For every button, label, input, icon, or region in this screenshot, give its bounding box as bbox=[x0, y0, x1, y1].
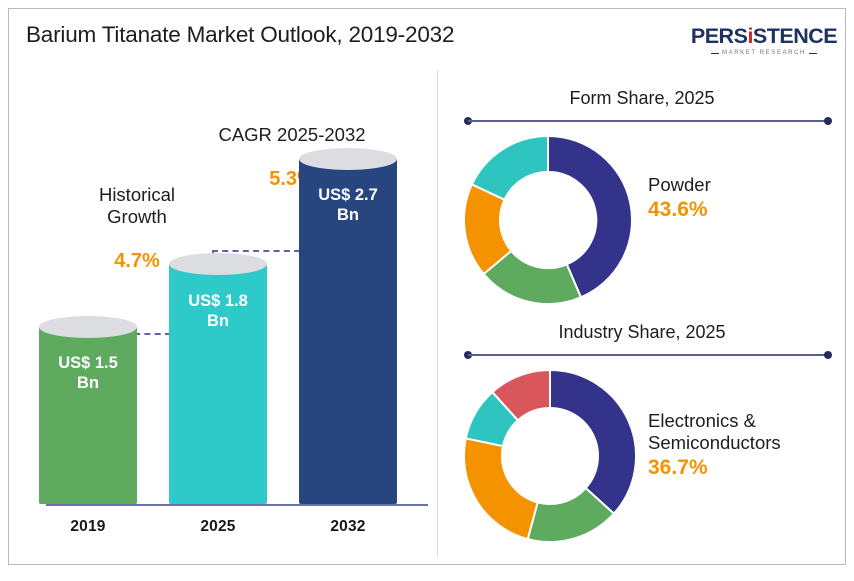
donut-slice-electronics[interactable] bbox=[550, 370, 636, 514]
logo-subtitle-row: MARKET RESEARCH bbox=[711, 50, 817, 56]
logo-wordmark: PERSiSTENCE bbox=[691, 26, 837, 48]
bar-group-2019: US$ 1.5 Bn 2019 bbox=[28, 80, 148, 550]
bar-top-ellipse bbox=[39, 316, 137, 338]
rule-dot-right-icon bbox=[824, 117, 832, 125]
form-share-rule bbox=[464, 117, 832, 125]
bar-xlabel-2032: 2032 bbox=[288, 518, 408, 536]
page-title: Barium Titanate Market Outlook, 2019-203… bbox=[26, 22, 454, 48]
logo-rule-right bbox=[809, 53, 817, 54]
rule-line bbox=[468, 120, 828, 122]
industry-share-legend: Electronics & Semiconductors 36.7% bbox=[648, 410, 833, 480]
logo-word-pre: PERS bbox=[691, 24, 748, 48]
form-share-legend: Powder 43.6% bbox=[648, 174, 833, 222]
industry-share-title: Industry Share, 2025 bbox=[450, 322, 834, 343]
rule-line bbox=[468, 354, 828, 356]
bar-group-2025: US$ 1.8 Bn 2025 bbox=[158, 80, 278, 550]
industry-share-legend-label: Electronics & Semiconductors bbox=[648, 410, 833, 454]
industry-share-legend-value: 36.7% bbox=[648, 456, 833, 480]
form-share-panel: Form Share, 2025 Powder 43.6% bbox=[450, 88, 834, 313]
bar-2019: US$ 1.5 Bn bbox=[39, 327, 137, 504]
donut-slice-4[interactable] bbox=[472, 136, 548, 200]
form-share-donut bbox=[462, 134, 634, 306]
industry-share-rule bbox=[464, 351, 832, 359]
bar-value-2025: US$ 1.8 Bn bbox=[169, 291, 267, 331]
bar-top-ellipse bbox=[169, 253, 267, 275]
brand-logo: PERSiSTENCE MARKET RESEARCH bbox=[694, 20, 834, 62]
rule-dot-right-icon bbox=[824, 351, 832, 359]
bar-xlabel-2019: 2019 bbox=[28, 518, 148, 536]
bar-2032: US$ 2.7 Bn bbox=[299, 159, 397, 504]
infographic-root: Barium Titanate Market Outlook, 2019-203… bbox=[0, 0, 854, 581]
logo-subtitle: MARKET RESEARCH bbox=[722, 50, 806, 56]
logo-word-post: STENCE bbox=[753, 24, 837, 48]
form-share-legend-label: Powder bbox=[648, 174, 833, 196]
bar-top-ellipse bbox=[299, 148, 397, 170]
bar-value-2032: US$ 2.7 Bn bbox=[299, 185, 397, 225]
donut-slice-3[interactable] bbox=[464, 438, 538, 539]
logo-rule-left bbox=[711, 53, 719, 54]
bar-value-2019: US$ 1.5 Bn bbox=[39, 353, 137, 393]
bar-xlabel-2025: 2025 bbox=[158, 518, 278, 536]
form-share-title: Form Share, 2025 bbox=[450, 88, 834, 109]
panel-divider bbox=[437, 70, 438, 557]
bar-group-2032: US$ 2.7 Bn 2032 bbox=[288, 80, 408, 550]
industry-share-panel: Industry Share, 2025 Electronics & Semic… bbox=[450, 322, 834, 554]
bar-2025: US$ 1.8 Bn bbox=[169, 264, 267, 504]
bar-chart-panel: Historical Growth 4.7% CAGR 2025-2032 5.… bbox=[14, 80, 434, 550]
form-share-legend-value: 43.6% bbox=[648, 198, 833, 222]
industry-share-donut bbox=[462, 368, 638, 544]
